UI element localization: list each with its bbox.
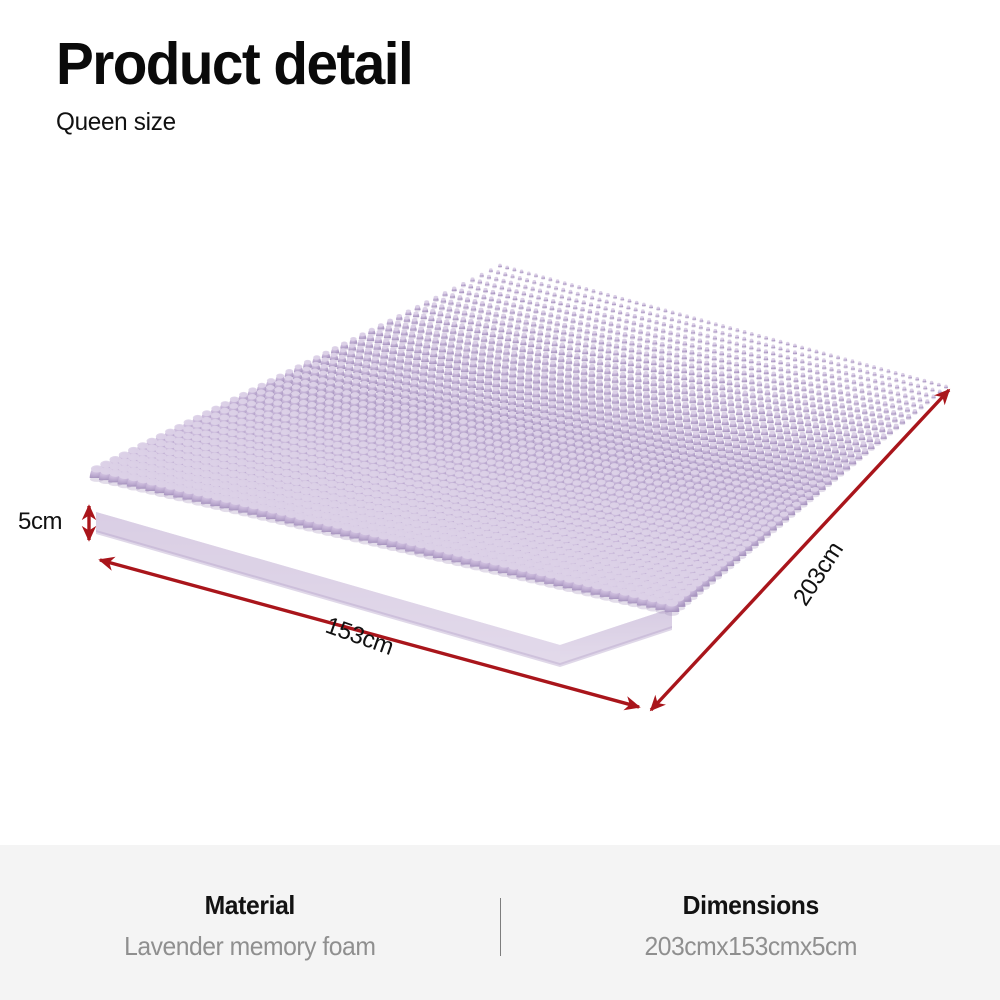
spec-value-material: Lavender memory foam	[12, 931, 487, 962]
spec-column-dimensions: Dimensions 203cmx153cmx5cm	[501, 884, 1000, 962]
product-illustration	[0, 160, 1000, 840]
page-subtitle: Queen size	[56, 108, 832, 137]
spec-title-dimensions: Dimensions	[513, 890, 988, 921]
spec-title-material: Material	[12, 890, 487, 921]
specification-bar: Material Lavender memory foam Dimensions…	[0, 845, 1000, 1000]
spec-column-material: Material Lavender memory foam	[0, 884, 500, 962]
foam-mattress-graphic	[0, 160, 1000, 840]
page-title: Product detail	[56, 34, 824, 96]
dimension-label-height: 5cm	[18, 508, 62, 536]
page-header: Product detail Queen size	[56, 34, 856, 137]
spec-value-dimensions: 203cmx153cmx5cm	[513, 931, 988, 962]
